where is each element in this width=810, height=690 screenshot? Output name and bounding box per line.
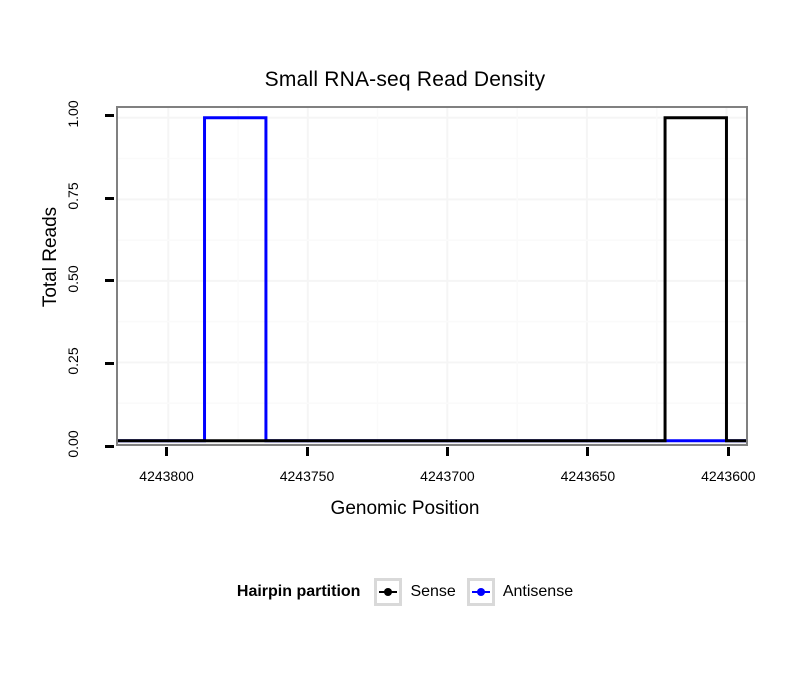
y-tick-label: 0.25 <box>65 338 81 384</box>
y-tick-label: 0.75 <box>65 173 81 219</box>
x-tick-mark <box>586 447 589 456</box>
legend: Hairpin partition Sense Antisense <box>0 578 810 606</box>
series-line-antisense <box>118 118 746 441</box>
x-tick-mark <box>306 447 309 456</box>
x-tick-label: 4243600 <box>673 468 783 484</box>
x-tick-label: 4243750 <box>252 468 362 484</box>
legend-label-antisense: Antisense <box>503 583 573 601</box>
x-axis-label: Genomic Position <box>0 498 810 520</box>
legend-entry-antisense[interactable]: Antisense <box>467 578 573 606</box>
x-tick-label: 4243700 <box>392 468 502 484</box>
y-tick-mark <box>105 362 114 365</box>
legend-title: Hairpin partition <box>237 583 361 601</box>
legend-point-sense <box>384 588 392 596</box>
y-axis-label: Total Reads <box>40 167 62 347</box>
y-tick-label: 0.50 <box>65 256 81 302</box>
chart-title: Small RNA-seq Read Density <box>0 68 810 92</box>
x-tick-label: 4243650 <box>533 468 643 484</box>
y-tick-mark <box>105 197 114 200</box>
y-tick-mark <box>105 114 114 117</box>
x-tick-mark <box>165 447 168 456</box>
y-tick-label: 0.00 <box>65 421 81 467</box>
series-line-sense <box>118 118 746 441</box>
plot-area <box>118 108 746 444</box>
legend-key-antisense-icon <box>467 578 495 606</box>
legend-entry-sense[interactable]: Sense <box>374 578 455 606</box>
x-tick-label: 4243800 <box>112 468 222 484</box>
y-tick-mark <box>105 445 114 448</box>
legend-point-antisense <box>477 588 485 596</box>
legend-key-sense-icon <box>374 578 402 606</box>
x-tick-mark <box>446 447 449 456</box>
legend-label-sense: Sense <box>410 583 455 601</box>
y-tick-mark <box>105 279 114 282</box>
plot-panel <box>116 106 748 446</box>
x-tick-mark <box>727 447 730 456</box>
y-tick-label: 1.00 <box>65 91 81 137</box>
